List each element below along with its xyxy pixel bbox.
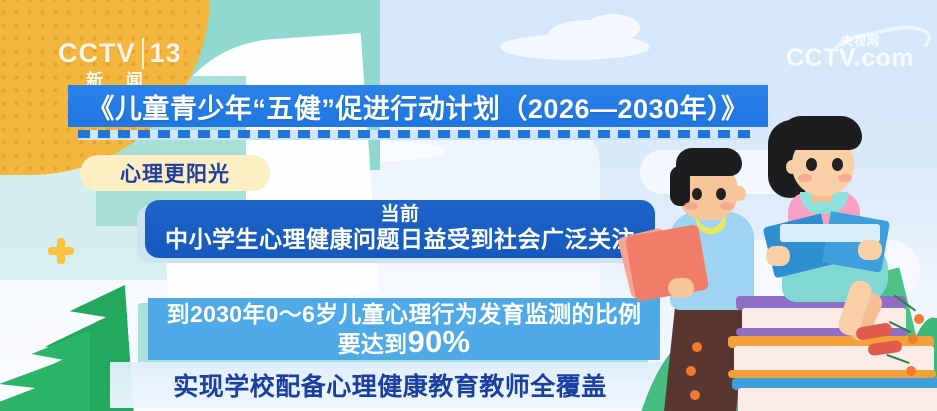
girl-eye [806, 158, 817, 171]
section-pill: 心理更阳光 [80, 155, 270, 191]
girl-cheek [838, 174, 852, 182]
callout-secondary-line2: 要达到90% [338, 328, 471, 358]
berry-icon [690, 390, 700, 400]
cctv-com-watermark: CCTV.com 央视网 [786, 44, 914, 73]
book-edge-orange [728, 370, 936, 378]
callout-secondary-prefix: 要达到 [338, 331, 408, 357]
cctv-channel-logo: CCTV13 [58, 38, 182, 69]
cloud-shape [586, 14, 640, 42]
callout-secondary-value: 90% [407, 324, 470, 359]
cctv-logo-text: CCTV [58, 38, 136, 68]
girl-cheek [798, 174, 812, 182]
callout-primary-line1: 当前 [380, 204, 419, 226]
berry-icon [906, 366, 916, 376]
callout-primary: 当前 中小学生心理健康问题日益受到社会广泛关注 [145, 200, 655, 258]
bottom-banner-text: 实现学校配备心理健康教育教师全覆盖 [173, 367, 607, 403]
berry-icon [686, 366, 696, 376]
berry-icon [914, 314, 924, 324]
girl-hair-fringe [780, 116, 862, 150]
bottom-banner: 实现学校配备心理健康教育教师全覆盖 [110, 362, 670, 408]
girl-hand [766, 246, 790, 266]
plus-icon [48, 238, 74, 264]
callout-secondary: 到2030年0～6岁儿童心理行为发育监测的比例 要达到90% [148, 298, 660, 360]
book-pages [734, 346, 934, 372]
girl-hand [858, 240, 882, 260]
girl-eye [832, 158, 843, 171]
boy-cheek [720, 202, 734, 210]
broadcast-screen: CCTV13 新 闻 CCTV.com 央视网 《儿童青少年“五健”促进行动计划… [0, 0, 937, 411]
boy-book [625, 224, 709, 302]
boy-eye [692, 188, 702, 200]
berry-icon [692, 342, 702, 352]
section-pill-label: 心理更阳光 [120, 158, 230, 188]
children-reading-illustration [640, 120, 937, 411]
callout-secondary-line1: 到2030年0～6岁儿童心理行为发育监测的比例 [167, 301, 642, 328]
cctv-channel-number: 13 [142, 38, 182, 69]
boy-eye [716, 188, 726, 200]
boy-hair-fringe [676, 148, 742, 176]
girl-book-right-page [822, 211, 890, 273]
book-pages [738, 388, 937, 411]
boy-hand [668, 278, 694, 298]
boy-cheek [684, 202, 698, 210]
watermark-chinese-text: 央视网 [841, 32, 880, 49]
callout-primary-line2: 中小学生心理健康问题日益受到社会广泛关注 [165, 226, 635, 253]
berry-icon [908, 334, 918, 344]
book-stack [728, 296, 937, 411]
